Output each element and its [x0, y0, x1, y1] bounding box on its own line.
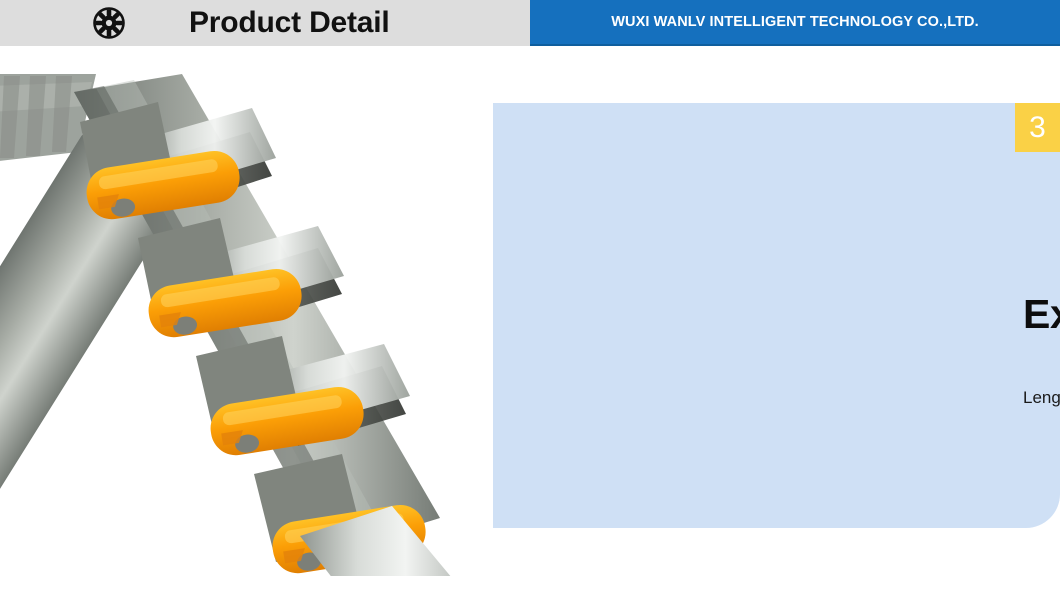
header-left-bar: Product Detail [0, 0, 530, 46]
slide-page: Product Detail WUXI WANLV INTELLIGENT TE… [0, 0, 1060, 616]
header-company-bar: WUXI WANLV INTELLIGENT TECHNOLOGY CO.,LT… [530, 0, 1060, 46]
product-image-illustration [0, 66, 492, 576]
panel-heading: Extended Rod [1023, 288, 1060, 340]
page-header: Product Detail WUXI WANLV INTELLIGENT TE… [0, 0, 1060, 46]
company-name: WUXI WANLV INTELLIGENT TECHNOLOGY CO.,LT… [530, 0, 1060, 44]
product-image [0, 66, 492, 576]
info-panel: Extended Rod Length option: 3.5M,5.5M,7.… [493, 103, 1060, 528]
panel-description: Length option: 3.5M,5.5M,7.5M. [1023, 386, 1060, 410]
step-number-badge: 3 [1015, 103, 1060, 152]
page-title: Product Detail [189, 3, 390, 43]
gear-icon [92, 6, 126, 40]
